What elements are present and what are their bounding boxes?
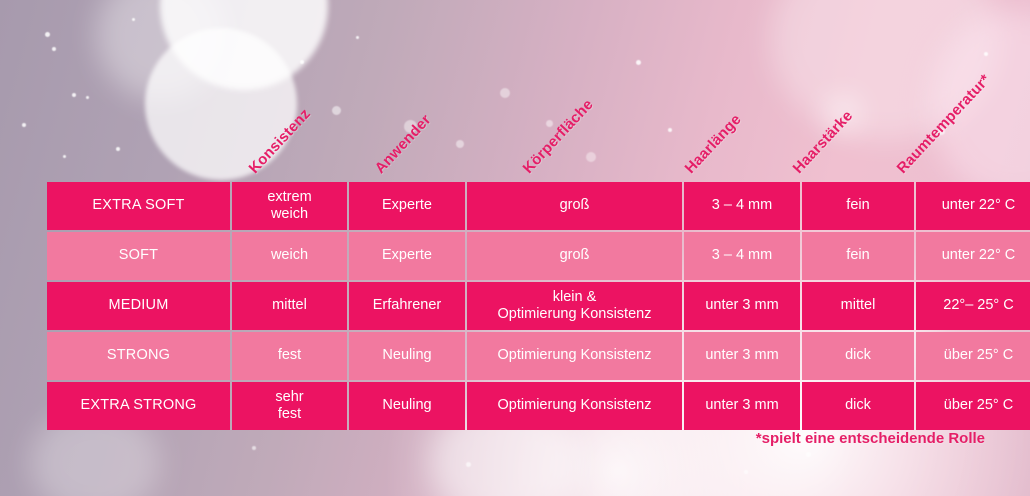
koerperflaeche-line-1: groß (560, 197, 590, 213)
cell-raumtemperatur: 22°– 25° C (916, 282, 1030, 330)
cell-haarlaenge: 3 – 4 mm (684, 182, 800, 230)
cell-haarlaenge: unter 3 mm (684, 382, 800, 430)
sparkle-dot (72, 93, 76, 97)
table-row: MEDIUM mittel Erfahrener klein & Optimie… (47, 282, 1030, 330)
cell-koerperflaeche: Optimierung Konsistenz (467, 332, 682, 380)
sparkle-dot (744, 470, 748, 474)
bokeh-glow-topleft (96, 0, 226, 100)
cell-haarlaenge: unter 3 mm (684, 332, 800, 380)
cell-konsistenz: extrem weich (232, 182, 347, 230)
sparkle-dot (86, 96, 89, 99)
sparkle-dot (63, 155, 66, 158)
sparkle-dot (586, 152, 596, 162)
cell-anwender: Erfahrener (349, 282, 465, 330)
cell-koerperflaeche: groß (467, 182, 682, 230)
cell-haarstaerke: dick (802, 382, 914, 430)
cell-grade: EXTRA STRONG (47, 382, 230, 430)
cell-konsistenz: weich (232, 232, 347, 280)
cell-grade: SOFT (47, 232, 230, 280)
sparkle-dot (252, 446, 256, 450)
bokeh-glow-upper-right (770, 0, 1000, 140)
cell-haarlaenge: 3 – 4 mm (684, 232, 800, 280)
cell-raumtemperatur: unter 22° C (916, 232, 1030, 280)
column-header-raumtemperatur: Raumtemperatur* (894, 71, 994, 177)
cell-haarstaerke: mittel (802, 282, 914, 330)
cell-anwender: Experte (349, 182, 465, 230)
konsistenz-line-1: extrem (267, 189, 311, 205)
konsistenz-line-2: fest (278, 406, 301, 422)
sparkle-dot (546, 120, 553, 127)
cell-konsistenz: sehr fest (232, 382, 347, 430)
column-header-konsistenz: Konsistenz (246, 105, 314, 177)
infographic-canvas: Konsistenz Anwender Körperfläche Haarlän… (0, 0, 1030, 496)
cell-grade: STRONG (47, 332, 230, 380)
cell-haarstaerke: dick (802, 332, 914, 380)
column-header-haarstaerke: Haarstärke (790, 107, 857, 177)
sparkle-dot (116, 147, 120, 151)
cell-koerperflaeche: klein & Optimierung Konsistenz (467, 282, 682, 330)
cell-konsistenz: fest (232, 332, 347, 380)
footnote-text: *spielt eine entscheidende Rolle (756, 430, 985, 447)
cell-anwender: Experte (349, 232, 465, 280)
sparkle-dot (356, 36, 359, 39)
column-header-koerperflaeche: Körperfläche (520, 96, 597, 177)
table-row: EXTRA SOFT extrem weich Experte groß 3 –… (47, 182, 1030, 230)
cell-raumtemperatur: unter 22° C (916, 182, 1030, 230)
sparkle-dot (636, 60, 641, 65)
cell-anwender: Neuling (349, 332, 465, 380)
cell-grade: EXTRA SOFT (47, 182, 230, 230)
table-row: STRONG fest Neuling Optimierung Konsiste… (47, 332, 1030, 380)
bokeh-glow-right-edge (930, 10, 1030, 200)
comparison-matrix: EXTRA SOFT extrem weich Experte groß 3 –… (45, 180, 1030, 432)
table-row: SOFT weich Experte groß 3 – 4 mm fein un… (47, 232, 1030, 280)
cell-haarstaerke: fein (802, 182, 914, 230)
koerperflaeche-line-1: klein & (553, 289, 597, 305)
sparkle-dot (668, 128, 672, 132)
sparkle-dot (984, 52, 988, 56)
table-row: EXTRA STRONG sehr fest Neuling Optimieru… (47, 382, 1030, 430)
cell-grade: MEDIUM (47, 282, 230, 330)
konsistenz-line-1: sehr (275, 389, 303, 405)
column-header-anwender: Anwender (372, 111, 435, 177)
cell-raumtemperatur: über 25° C (916, 332, 1030, 380)
sparkle-dot (456, 140, 464, 148)
konsistenz-line-2: weich (271, 206, 308, 222)
cell-konsistenz: mittel (232, 282, 347, 330)
sparkle-dot (332, 106, 341, 115)
cell-raumtemperatur: über 25° C (916, 382, 1030, 430)
koerperflaeche-line-2: Optimierung Konsistenz (498, 306, 652, 322)
bokeh-circle-large-top (160, 0, 328, 90)
sparkle-dot (500, 88, 510, 98)
cell-haarlaenge: unter 3 mm (684, 282, 800, 330)
sparkle-dot (806, 452, 811, 457)
cell-haarstaerke: fein (802, 232, 914, 280)
sparkle-dot (466, 462, 471, 467)
sparkle-dot (52, 47, 56, 51)
cell-koerperflaeche: Optimierung Konsistenz (467, 382, 682, 430)
sparkle-dot (300, 60, 304, 64)
sparkle-dot (45, 32, 50, 37)
sparkle-dot (22, 123, 26, 127)
cell-anwender: Neuling (349, 382, 465, 430)
column-header-haarlaenge: Haarlänge (682, 111, 745, 177)
sparkle-dot (132, 18, 135, 21)
cell-koerperflaeche: groß (467, 232, 682, 280)
